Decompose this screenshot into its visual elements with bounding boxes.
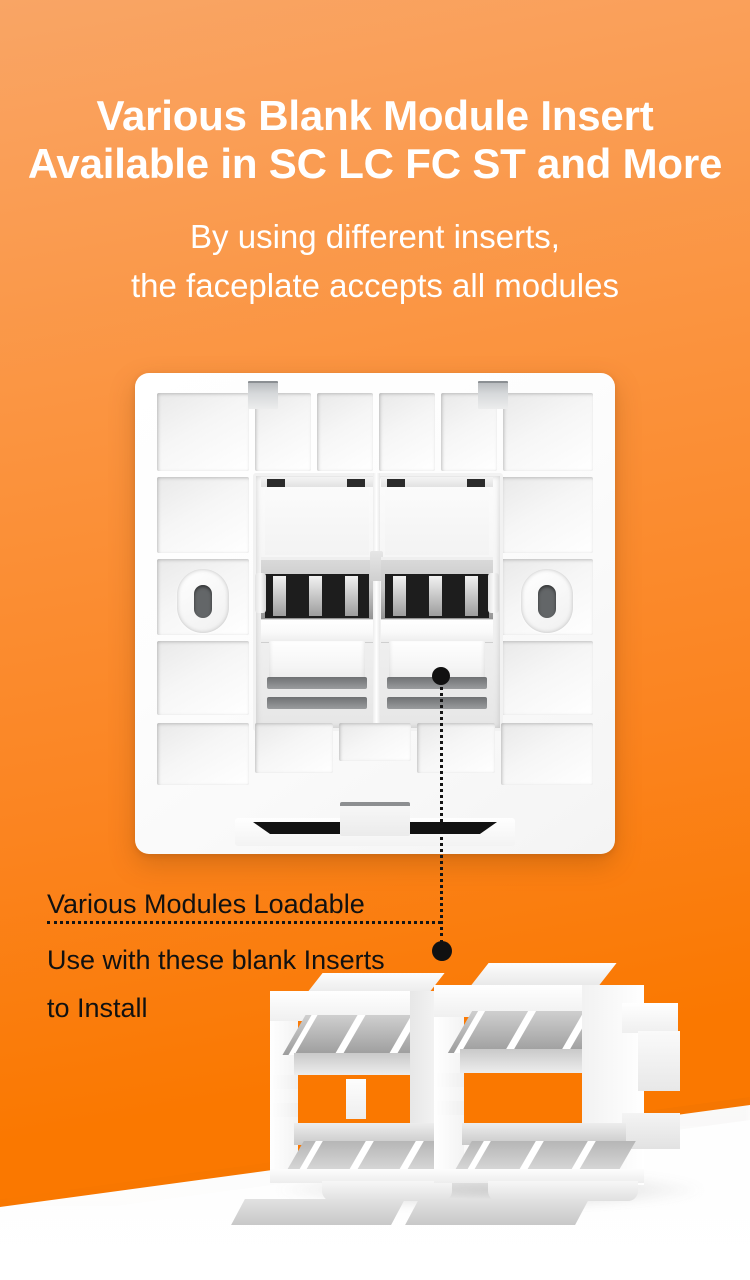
jack-fin xyxy=(429,576,442,616)
jack-slot xyxy=(267,677,367,689)
faceplate-cell xyxy=(157,393,249,471)
insert-mid-tab xyxy=(434,1101,464,1115)
insert-top-cap xyxy=(471,963,616,985)
jack-fin xyxy=(345,576,358,616)
faceplate-cell xyxy=(317,393,373,471)
jack-contacts-housing xyxy=(261,557,373,622)
insert-right-step-top xyxy=(622,1003,678,1033)
faceplate-cell xyxy=(417,723,495,773)
faceplate-cell xyxy=(379,393,435,471)
jack-fin xyxy=(465,576,478,616)
faceplate-inner xyxy=(135,373,615,854)
bay-cavity xyxy=(265,487,369,555)
retention-tab-icon xyxy=(248,381,278,409)
promo-banner: Various Blank Module Insert Available in… xyxy=(0,0,750,1280)
jack-fin xyxy=(273,576,286,616)
faceplate-cell xyxy=(157,723,249,785)
jack-label-band xyxy=(261,619,373,643)
module-bay-left xyxy=(261,477,373,721)
callout-line-1: Various Modules Loadable xyxy=(47,880,477,928)
bay-side-clip xyxy=(255,573,266,613)
insert-right-step-mid xyxy=(638,1031,680,1091)
title-line-2: Available in SC LC FC ST and More xyxy=(0,140,750,188)
faceplate-cell xyxy=(255,723,333,773)
insert-mid-tab xyxy=(270,1075,298,1089)
callout-anchor-dot-bottom xyxy=(432,941,452,961)
callout-line-3: to Install xyxy=(47,984,477,1032)
callout-line-2: Use with these blank Inserts xyxy=(47,936,477,984)
page-subtitle: By using different inserts, the faceplat… xyxy=(0,212,750,310)
faceplate-cell xyxy=(339,723,411,761)
insert-mid-tab xyxy=(434,1073,464,1087)
subtitle-line-2: the faceplate accepts all modules xyxy=(0,261,750,310)
faceplate-cell xyxy=(501,641,593,715)
faceplate-cell xyxy=(157,477,249,553)
bay-side-clip xyxy=(488,573,499,613)
insert-center-key xyxy=(346,1079,366,1119)
page-title: Various Blank Module Insert Available in… xyxy=(0,92,750,188)
screw-hole-right xyxy=(521,569,573,633)
insert-mid-tab xyxy=(270,1103,298,1117)
subtitle-line-1: By using different inserts, xyxy=(0,212,750,261)
jack-slot xyxy=(387,697,487,709)
faceplate-cell xyxy=(503,393,593,471)
insert-foot-plate xyxy=(405,1199,589,1225)
faceplate-bottom-notch xyxy=(340,802,410,836)
faceplate-cell xyxy=(501,723,593,785)
insert-foot xyxy=(488,1181,638,1201)
bay-separator xyxy=(373,473,380,725)
title-line-1: Various Blank Module Insert xyxy=(96,92,653,139)
callout-anchor-dot-top xyxy=(432,667,450,685)
retention-tab-icon xyxy=(478,381,508,409)
bay-cavity xyxy=(385,487,489,555)
jack-fin xyxy=(393,576,406,616)
jack-contacts-housing xyxy=(381,557,493,622)
faceplate-cell xyxy=(157,641,249,715)
insert-foot-plate xyxy=(231,1199,405,1225)
faceplate-cell xyxy=(501,477,593,553)
jack-label-band xyxy=(381,619,493,643)
screw-hole-left xyxy=(177,569,229,633)
jack-slot xyxy=(267,697,367,709)
faceplate-rear-image xyxy=(135,373,615,854)
jack-fin xyxy=(309,576,322,616)
callout-text-block: Various Modules Loadable Use with these … xyxy=(47,880,477,1032)
